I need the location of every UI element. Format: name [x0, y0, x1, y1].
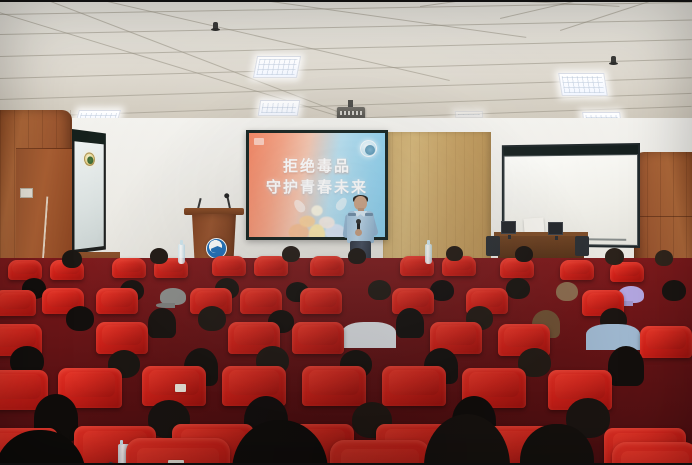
epaulet — [348, 213, 356, 216]
person-hair — [148, 308, 176, 338]
seat — [310, 256, 344, 276]
ceiling — [0, 0, 692, 135]
person-head — [348, 248, 366, 264]
seat-row — [0, 344, 692, 400]
recessed-light-panel — [558, 73, 608, 96]
lecture-hall-photo: 拒绝毒品 守护青春未来 — [0, 0, 692, 465]
seat-number-tag — [168, 460, 184, 465]
recessed-light-panel — [258, 100, 301, 116]
seat — [330, 440, 430, 465]
seat-number-tag — [175, 384, 186, 392]
right-wood-seam — [634, 216, 692, 217]
person-head — [605, 248, 624, 265]
slide-title: 拒绝毒品 — [249, 155, 385, 176]
seat-row — [0, 306, 692, 348]
side-projection-screen — [72, 129, 106, 254]
fire-sprinkler-head — [611, 56, 616, 64]
person-head — [506, 278, 530, 299]
smartphone — [99, 461, 118, 465]
person-head — [198, 306, 226, 331]
person-head — [62, 250, 82, 268]
person-hair — [608, 346, 644, 386]
hand — [355, 229, 362, 236]
recessed-light-panel — [455, 111, 483, 118]
person-head — [66, 306, 94, 331]
water-bottle — [425, 244, 432, 264]
front-wall-wood-panel — [383, 132, 491, 268]
seat-row — [0, 276, 692, 310]
podium-top-surface — [184, 208, 244, 215]
person-head — [515, 246, 533, 262]
epaulet — [365, 213, 373, 216]
person-hair — [396, 308, 424, 338]
monitor — [501, 221, 516, 234]
person-head — [368, 280, 391, 300]
person-head — [150, 248, 168, 264]
person-head — [282, 246, 300, 262]
institution-seal-icon — [84, 152, 95, 166]
seat — [212, 256, 246, 276]
slide-corner-mark — [254, 138, 264, 145]
wall-outlet-plate — [20, 188, 33, 198]
person-head — [446, 246, 463, 261]
baseball-cap — [160, 288, 186, 305]
seat — [612, 442, 692, 465]
chair — [486, 236, 500, 256]
chair — [575, 236, 589, 256]
recessed-light-panel — [253, 56, 301, 78]
water-bottle — [178, 244, 185, 264]
seat-row — [0, 454, 692, 465]
ceiling-projector — [337, 100, 365, 120]
person-head — [655, 250, 673, 266]
person-head — [662, 280, 686, 301]
seating-area — [0, 258, 692, 465]
seat — [112, 258, 146, 278]
monitor — [548, 222, 563, 235]
person-head — [556, 282, 578, 301]
fire-sprinkler-head — [213, 22, 218, 30]
